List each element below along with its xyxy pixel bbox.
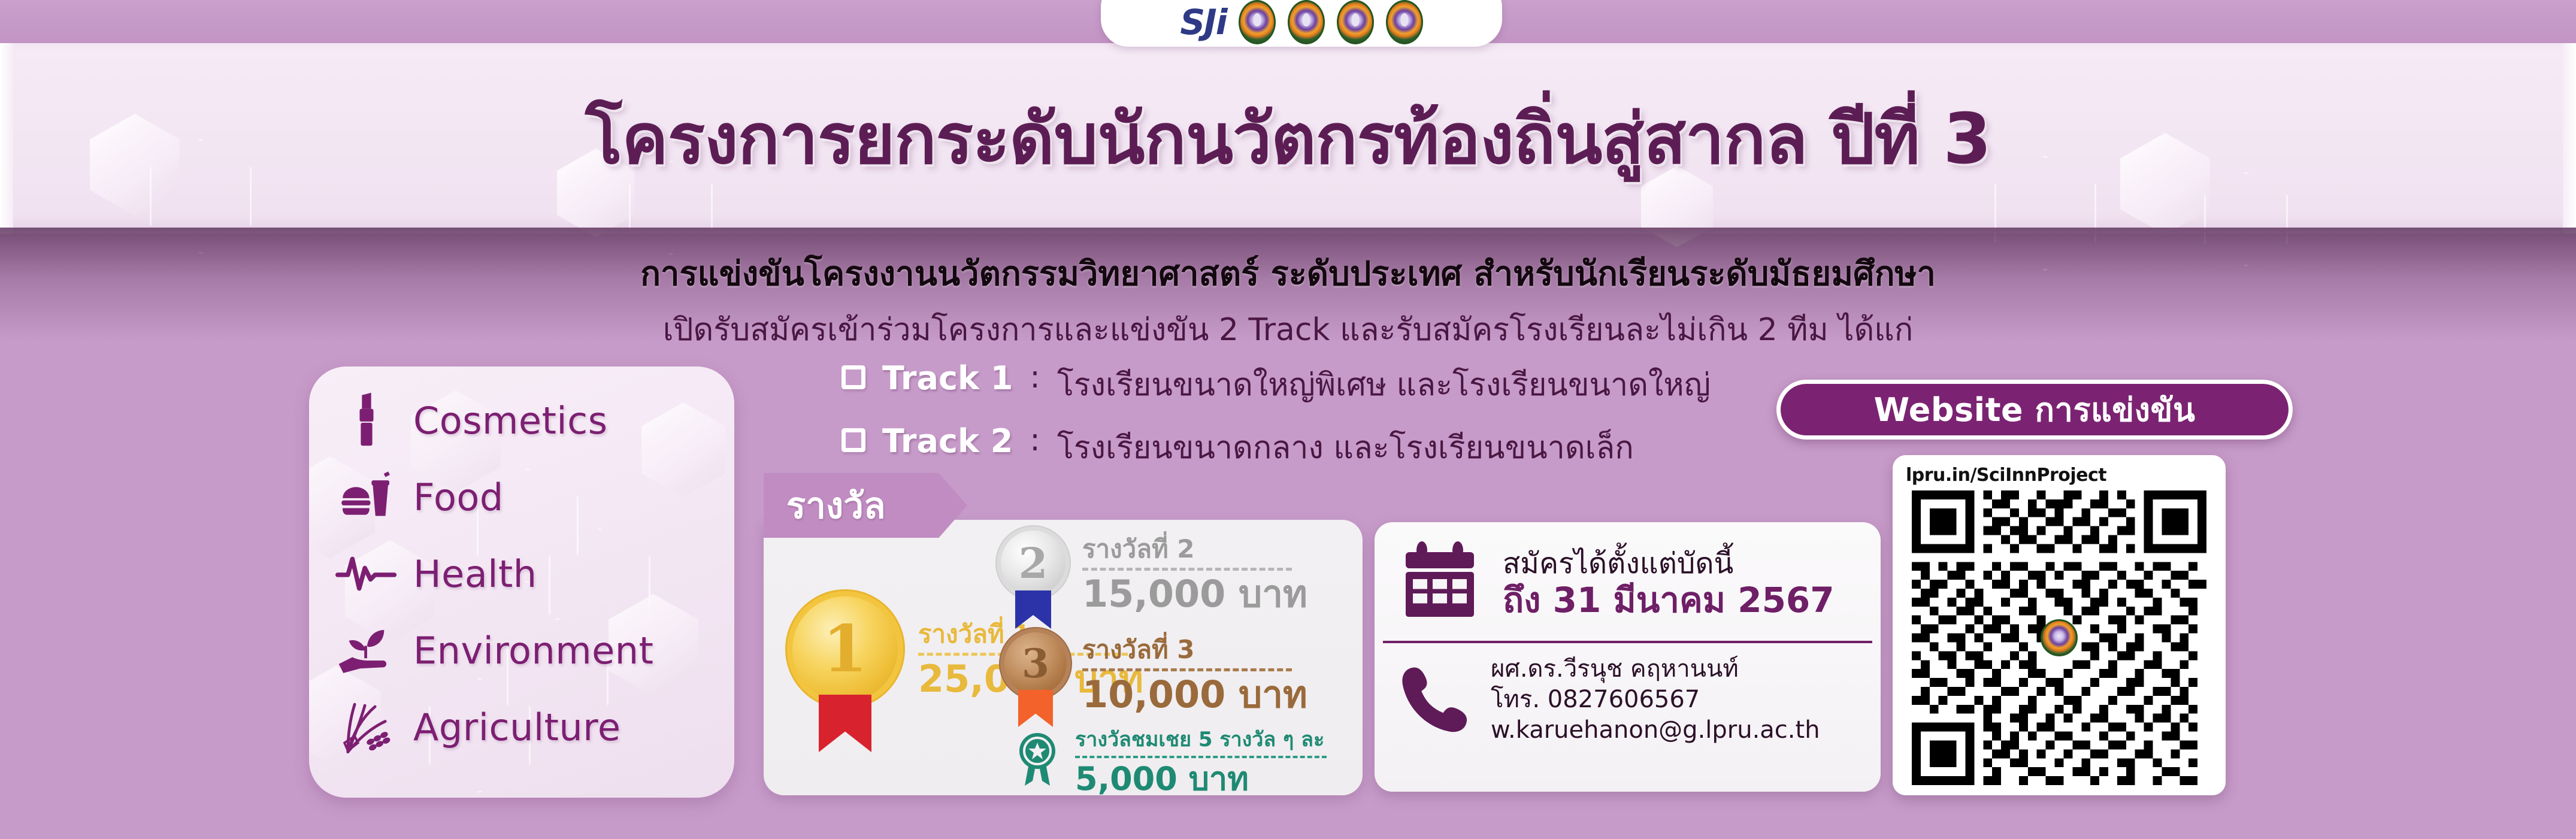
medal-silver: 2 (1001, 531, 1065, 595)
category-label: Agriculture (413, 705, 620, 749)
prize-amount: 5,000 บาท (1075, 763, 1327, 795)
category-item-health: Health (309, 535, 734, 612)
track-description: โรงเรียนขนาดกลาง และโรงเรียนขนาดเล็ก (1057, 422, 1634, 472)
prize-text-consolation: รางวัลชมเชย 5 รางวัล ๆ ละ 5,000 บาท (1075, 729, 1327, 795)
burger-drink-icon (333, 464, 400, 530)
categories-panel: Cosmetics Food (309, 367, 734, 798)
prize-title: รางวัลที่ 3 (1082, 637, 1292, 662)
university-seal-icon-3 (1337, 0, 1374, 44)
prizes-tab-label: รางวัล (764, 473, 967, 538)
prize-title: รางวัลชมเชย 5 รางวัล ๆ ละ (1075, 729, 1327, 750)
website-button[interactable]: Website การแข่งขัน (1776, 380, 2293, 440)
contact-phone: โทร. 0827606567 (1491, 684, 1820, 715)
medal-consolation (1014, 731, 1061, 788)
page-title: โครงการยกระดับนักนวัตกรท้องถิ่นสู่สากล ป… (0, 103, 2576, 176)
lipstick-icon (333, 387, 400, 453)
qr-url-label: lpru.in/SciInnProject (1906, 465, 2216, 486)
contact-email: w.karuehanon@g.lpru.ac.th (1491, 715, 1820, 746)
track-label: Track 2 (882, 422, 1013, 460)
subtitle-line-1: การแข่งขันโครงงานนวัตกรรมวิทยาศาสตร์ ระด… (0, 247, 2576, 300)
category-item-environment: Environment (309, 612, 734, 689)
track-label: Track 1 (882, 359, 1013, 397)
contact-person: ผศ.ดร.วีรนุช คฤหานนท์ (1491, 654, 1820, 684)
ribbon-red (819, 695, 871, 752)
ribbon-orange (1018, 690, 1053, 727)
category-label: Food (413, 475, 504, 519)
sji-logo-text: SJi (1180, 2, 1226, 43)
prize-title: รางวัลที่ 2 (1082, 537, 1292, 562)
qr-card[interactable]: lpru.in/SciInnProject (1893, 455, 2226, 795)
medal-bronze: 3 (1004, 632, 1067, 695)
phone-icon (1395, 660, 1473, 740)
rosette-icon (1014, 731, 1061, 786)
university-seal-icon-1 (1239, 0, 1276, 44)
category-label: Health (413, 552, 537, 596)
prize-amount: 10,000 บาท (1082, 676, 1292, 713)
medal-gold: 1 (792, 596, 898, 702)
checkbox-icon[interactable] (841, 428, 865, 452)
university-seal-icon-2 (1288, 0, 1325, 44)
contact-panel: สมัครได้ตั้งแต่บัดนี้ ถึง 31 มีนาคม 2567… (1375, 522, 1881, 792)
category-item-food: Food (309, 459, 734, 535)
track-description: โรงเรียนขนาดใหญ่พิเศษ และโรงเรียนขนาดใหญ… (1057, 359, 1711, 409)
heartbeat-icon (333, 541, 400, 607)
wheat-icon (333, 694, 400, 760)
university-seal-icon-4 (1386, 0, 1423, 44)
hand-plant-icon (333, 617, 400, 683)
university-seal-icon (2041, 619, 2078, 656)
calendar-icon (1395, 538, 1485, 630)
category-item-cosmetics: Cosmetics (309, 382, 734, 459)
prize-text-2: รางวัลที่ 2 15,000 บาท (1082, 537, 1292, 613)
prizes-card: 1 รางวัลที่ 1 25,000 บาท 2 รางวัลที่ 2 1… (764, 520, 1363, 795)
poster-root: SJi โครงการยกระดับนักนวัตกรท้องถิ่นสู่สา… (0, 0, 2576, 839)
logo-badge: SJi (1101, 0, 1502, 47)
prizes-panel: 1 รางวัลที่ 1 25,000 บาท 2 รางวัลที่ 2 1… (764, 473, 1369, 799)
category-item-agriculture: Agriculture (309, 689, 734, 765)
qr-code[interactable] (1902, 490, 2216, 785)
track-separator: : (1030, 359, 1040, 395)
contact-person-block: ผศ.ดร.วีรนุช คฤหานนท์ โทร. 0827606567 w.… (1375, 643, 1881, 746)
apply-text: สมัครได้ตั้งแต่บัดนี้ (1503, 548, 1835, 580)
category-label: Cosmetics (413, 399, 608, 443)
track-separator: : (1030, 422, 1040, 458)
subtitle-line-2: เปิดรับสมัครเข้าร่วมโครงการและแข่งขัน 2 … (0, 304, 2576, 354)
category-label: Environment (413, 629, 653, 673)
contact-deadline-block: สมัครได้ตั้งแต่บัดนี้ ถึง 31 มีนาคม 2567 (1375, 522, 1881, 641)
prize-text-3: รางวัลที่ 3 10,000 บาท (1082, 637, 1292, 713)
sji-logo: SJi (1180, 2, 1226, 43)
prize-amount: 15,000 บาท (1082, 576, 1292, 613)
checkbox-icon[interactable] (841, 365, 865, 389)
deadline-text: ถึง 31 มีนาคม 2567 (1503, 580, 1835, 620)
